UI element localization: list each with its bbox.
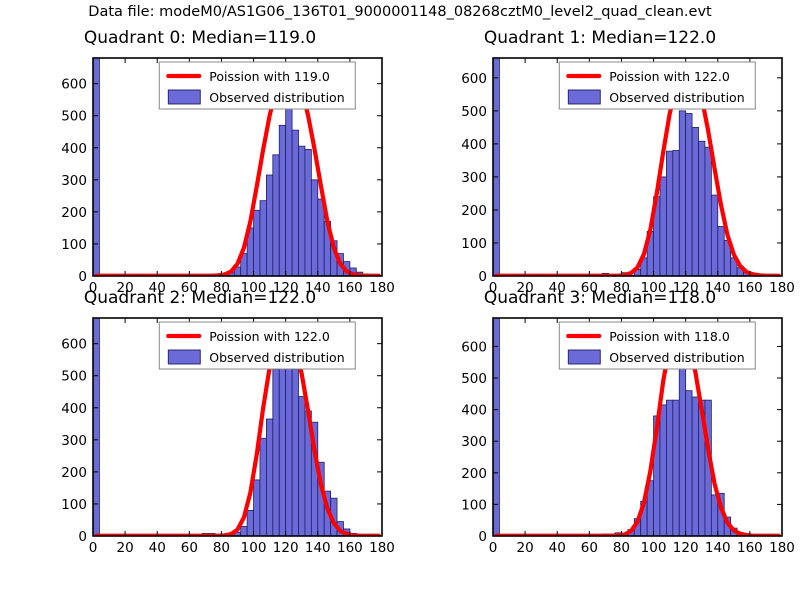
legend[interactable]: Poission with 122.0Observed distribution	[559, 62, 755, 109]
y-tick-label: 400	[61, 401, 87, 417]
y-tick-label: 400	[461, 137, 487, 153]
figure-suptitle: Data file: modeM0/AS1G06_136T01_90000011…	[0, 4, 800, 20]
x-tick-label: 100	[241, 540, 267, 556]
x-tick-label: 120	[673, 540, 699, 556]
x-tick-label: 160	[337, 540, 363, 556]
x-tick-label: 140	[305, 540, 331, 556]
y-tick-label: 100	[61, 237, 87, 253]
x-tick-label: 180	[769, 540, 795, 556]
y-tick-label: 200	[461, 466, 487, 482]
x-tick-label: 80	[613, 540, 630, 556]
y-tick-label: 400	[461, 403, 487, 419]
legend-patch-swatch	[168, 350, 200, 364]
x-tick-label: 60	[181, 540, 198, 556]
y-tick-label: 0	[78, 269, 87, 285]
y-tick-label: 0	[478, 269, 487, 285]
legend-patch-swatch	[568, 350, 600, 364]
y-tick-label: 500	[461, 371, 487, 387]
legend-label: Observed distribution	[209, 350, 344, 365]
x-tick-label: 40	[149, 540, 166, 556]
x-tick-label: 180	[369, 540, 395, 556]
x-tick-label: 100	[641, 540, 667, 556]
subplot-quadrant-1: Quadrant 1: Median=122.0 020406080100120…	[400, 28, 800, 300]
plot-area: 0204060801001201401601800100200300400500…	[400, 28, 800, 300]
y-tick-label: 100	[461, 236, 487, 252]
legend-label: Observed distribution	[609, 350, 744, 365]
y-tick-label: 300	[461, 170, 487, 186]
y-tick-label: 100	[61, 497, 87, 513]
x-tick-label: 20	[117, 540, 134, 556]
x-tick-label: 0	[89, 540, 98, 556]
legend[interactable]: Poission with 122.0Observed distribution	[159, 322, 355, 369]
y-tick-label: 200	[461, 203, 487, 219]
plot-area: 0204060801001201401601800100200300400500…	[400, 288, 800, 560]
y-tick-label: 400	[61, 141, 87, 157]
y-tick-label: 300	[61, 433, 87, 449]
legend[interactable]: Poission with 119.0Observed distribution	[159, 62, 355, 109]
y-tick-label: 500	[461, 104, 487, 120]
x-tick-label: 140	[705, 540, 731, 556]
legend-label: Observed distribution	[609, 90, 744, 105]
y-tick-label: 600	[461, 71, 487, 87]
x-tick-label: 160	[737, 540, 763, 556]
y-tick-label: 0	[78, 529, 87, 545]
legend-patch-swatch	[568, 90, 600, 104]
subplot-quadrant-0: Quadrant 0: Median=119.0 020406080100120…	[0, 28, 400, 300]
subplot-quadrant-2: Quadrant 2: Median=122.0 020406080100120…	[0, 288, 400, 560]
y-tick-label: 500	[61, 109, 87, 125]
legend-patch-swatch	[168, 90, 200, 104]
legend-label: Observed distribution	[209, 90, 344, 105]
y-tick-label: 100	[461, 497, 487, 513]
y-tick-label: 0	[478, 529, 487, 545]
y-tick-label: 600	[61, 337, 87, 353]
legend-label: Poission with 122.0	[609, 69, 730, 84]
plot-area: 0204060801001201401601800100200300400500…	[0, 28, 400, 300]
y-tick-label: 300	[461, 434, 487, 450]
y-tick-label: 200	[61, 465, 87, 481]
subplot-quadrant-3: Quadrant 3: Median=118.0 020406080100120…	[400, 288, 800, 560]
y-tick-label: 500	[61, 369, 87, 385]
x-tick-label: 40	[549, 540, 566, 556]
figure-canvas: Data file: modeM0/AS1G06_136T01_90000011…	[0, 0, 800, 600]
legend-label: Poission with 118.0	[609, 329, 730, 344]
y-tick-label: 600	[61, 77, 87, 93]
x-tick-label: 60	[581, 540, 598, 556]
legend-label: Poission with 122.0	[209, 329, 330, 344]
x-tick-label: 20	[517, 540, 534, 556]
x-tick-label: 120	[273, 540, 299, 556]
plot-area: 0204060801001201401601800100200300400500…	[0, 288, 400, 560]
y-tick-label: 200	[61, 205, 87, 221]
x-tick-label: 80	[213, 540, 230, 556]
legend-label: Poission with 119.0	[209, 69, 330, 84]
legend[interactable]: Poission with 118.0Observed distribution	[559, 322, 755, 369]
y-tick-label: 600	[461, 339, 487, 355]
y-tick-label: 300	[61, 173, 87, 189]
x-tick-label: 0	[489, 540, 498, 556]
